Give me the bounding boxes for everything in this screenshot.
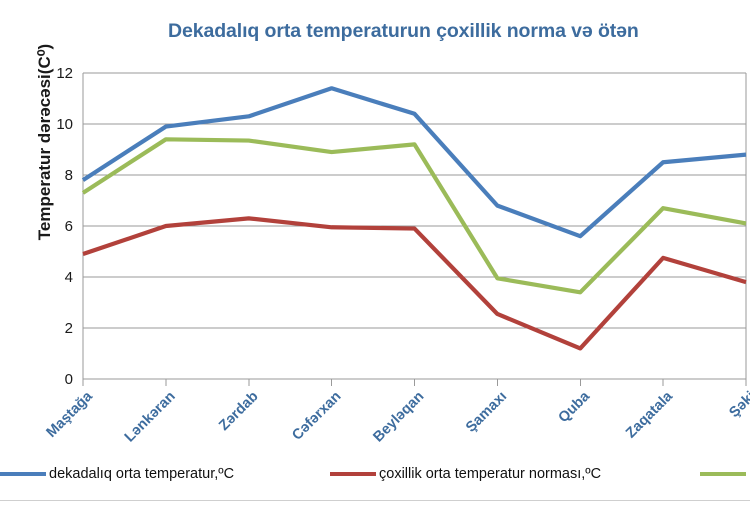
legend-label: dekadalıq orta temperatur,ºC — [49, 466, 234, 482]
legend-swatch — [700, 472, 746, 476]
plot-area: 024681012 MaştağaLənkəranZərdabCəfərxanB… — [0, 0, 750, 460]
x-axis-label: Zərdab — [216, 388, 262, 434]
y-axis-tick-label: 2 — [65, 320, 73, 337]
y-axis-tick-label: 10 — [56, 116, 73, 133]
legend-swatch — [330, 472, 376, 476]
series-line-1 — [83, 88, 746, 236]
x-axis-tick-marks — [83, 379, 746, 386]
y-axis-tick-label: 8 — [65, 167, 73, 184]
x-axis-label: Lənkəran — [122, 389, 179, 446]
series-line-2 — [83, 218, 746, 348]
x-axis-label: Quba — [556, 388, 594, 426]
y-axis-ticks: 024681012 — [56, 65, 73, 388]
y-axis-tick-label: 4 — [65, 269, 73, 286]
legend-item[interactable]: çoxillik orta temperatur norması,ºC — [330, 466, 601, 482]
x-axis-label: Beyləqan — [370, 389, 427, 446]
legend-label: çoxillik orta temperatur norması,ºC — [379, 466, 601, 482]
legend-swatch — [0, 472, 46, 476]
chart-card: Dekadalıq orta temperaturun çoxillik nor… — [0, 0, 750, 511]
x-axis-label: Zaqatala — [623, 388, 677, 442]
chart-legend: dekadalıq orta temperatur,ºCçoxillik ort… — [0, 459, 750, 489]
x-axis-label: Şamaxı — [463, 389, 510, 436]
y-axis-tick-label: 6 — [65, 218, 73, 235]
x-axis-label: Şəki — [726, 389, 750, 421]
x-axis-label: Maştağa — [43, 388, 96, 441]
x-axis-labels: MaştağaLənkəranZərdabCəfərxanBeyləqanŞam… — [43, 388, 750, 446]
y-axis-tick-label: 0 — [65, 371, 73, 388]
legend-separator — [0, 500, 750, 501]
legend-item[interactable]: dekadalıq orta temperatur,ºC — [0, 466, 234, 482]
series-lines — [83, 88, 746, 348]
legend-item[interactable] — [700, 472, 749, 476]
y-axis-tick-label: 12 — [56, 65, 73, 82]
x-axis-label: Cəfərxan — [289, 389, 344, 444]
series-line-3 — [83, 139, 746, 292]
